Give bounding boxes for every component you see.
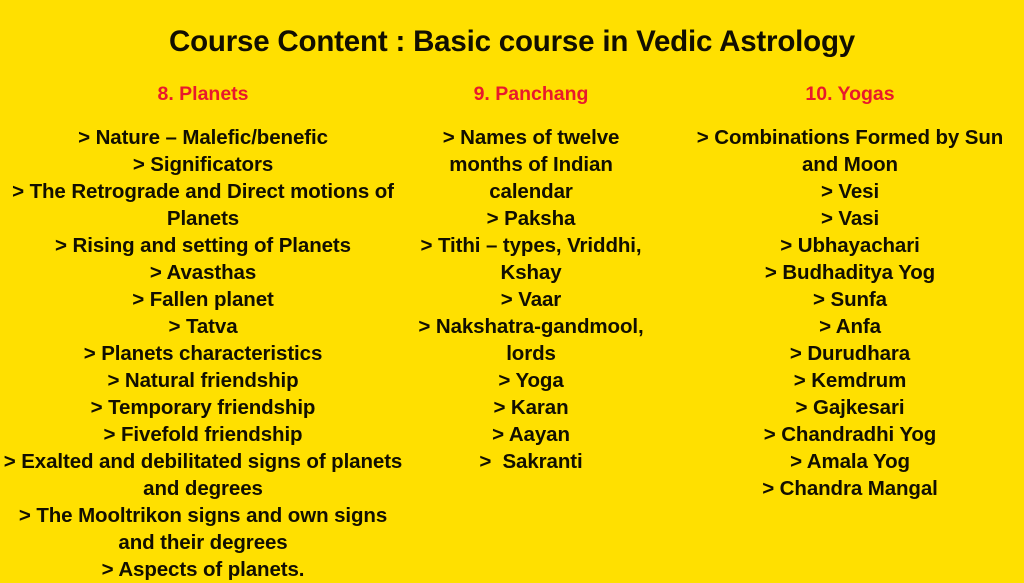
list-item: > Vesi <box>680 178 1020 205</box>
list-item: > Fivefold friendship <box>3 421 403 448</box>
list-item: > The Mooltrikon signs and own signs and… <box>3 502 403 556</box>
list-item: > The Retrograde and Direct motions of P… <box>3 178 403 232</box>
list-item: > Anfa <box>680 313 1020 340</box>
list-item: > Significators <box>3 151 403 178</box>
list-item: > Planets characteristics <box>3 340 403 367</box>
list-item: > Chandradhi Yog <box>680 421 1020 448</box>
column-items-panchang: > Names of twelve months of Indian calen… <box>405 124 657 475</box>
list-item: > Amala Yog <box>680 448 1020 475</box>
list-item: > Nature – Malefic/benefic <box>3 124 403 151</box>
list-item: > Paksha <box>405 205 657 232</box>
column-panchang: 9. Panchang > Names of twelve months of … <box>405 82 657 475</box>
list-item: > Sunfa <box>680 286 1020 313</box>
column-planets: 8. Planets > Nature – Malefic/benefic > … <box>3 82 403 583</box>
column-header-panchang: 9. Panchang <box>405 82 657 106</box>
list-item: > Vaar <box>405 286 657 313</box>
list-item: > Fallen planet <box>3 286 403 313</box>
list-item: > Rising and setting of Planets <box>3 232 403 259</box>
list-item: > Avasthas <box>3 259 403 286</box>
list-item: > Temporary friendship <box>3 394 403 421</box>
page-title: Course Content : Basic course in Vedic A… <box>0 24 1024 60</box>
list-item: > Names of twelve months of Indian calen… <box>405 124 657 205</box>
list-item: > Natural friendship <box>3 367 403 394</box>
list-item: > Tatva <box>3 313 403 340</box>
column-yogas: 10. Yogas > Combinations Formed by Sun a… <box>680 82 1020 502</box>
list-item: > Nakshatra-gandmool, lords <box>405 313 657 367</box>
column-items-yogas: > Combinations Formed by Sun and Moon > … <box>680 124 1020 502</box>
list-item: > Tithi – types, Vriddhi, Kshay <box>405 232 657 286</box>
list-item: > Gajkesari <box>680 394 1020 421</box>
list-item: > Budhaditya Yog <box>680 259 1020 286</box>
column-header-planets: 8. Planets <box>3 82 403 106</box>
column-items-planets: > Nature – Malefic/benefic > Significato… <box>3 124 403 583</box>
list-item: > Karan <box>405 394 657 421</box>
list-item: > Yoga <box>405 367 657 394</box>
list-item: > Vasi <box>680 205 1020 232</box>
list-item: > Kemdrum <box>680 367 1020 394</box>
list-item: > Durudhara <box>680 340 1020 367</box>
list-item: > Exalted and debilitated signs of plane… <box>3 448 403 502</box>
list-item: > Combinations Formed by Sun and Moon <box>680 124 1020 178</box>
column-header-yogas: 10. Yogas <box>680 82 1020 106</box>
list-item: > Aspects of planets. <box>3 556 403 583</box>
list-item: > Chandra Mangal <box>680 475 1020 502</box>
list-item: > Sakranti <box>405 448 657 475</box>
list-item: > Ubhayachari <box>680 232 1020 259</box>
slide-canvas: Course Content : Basic course in Vedic A… <box>0 0 1024 576</box>
list-item: > Aayan <box>405 421 657 448</box>
